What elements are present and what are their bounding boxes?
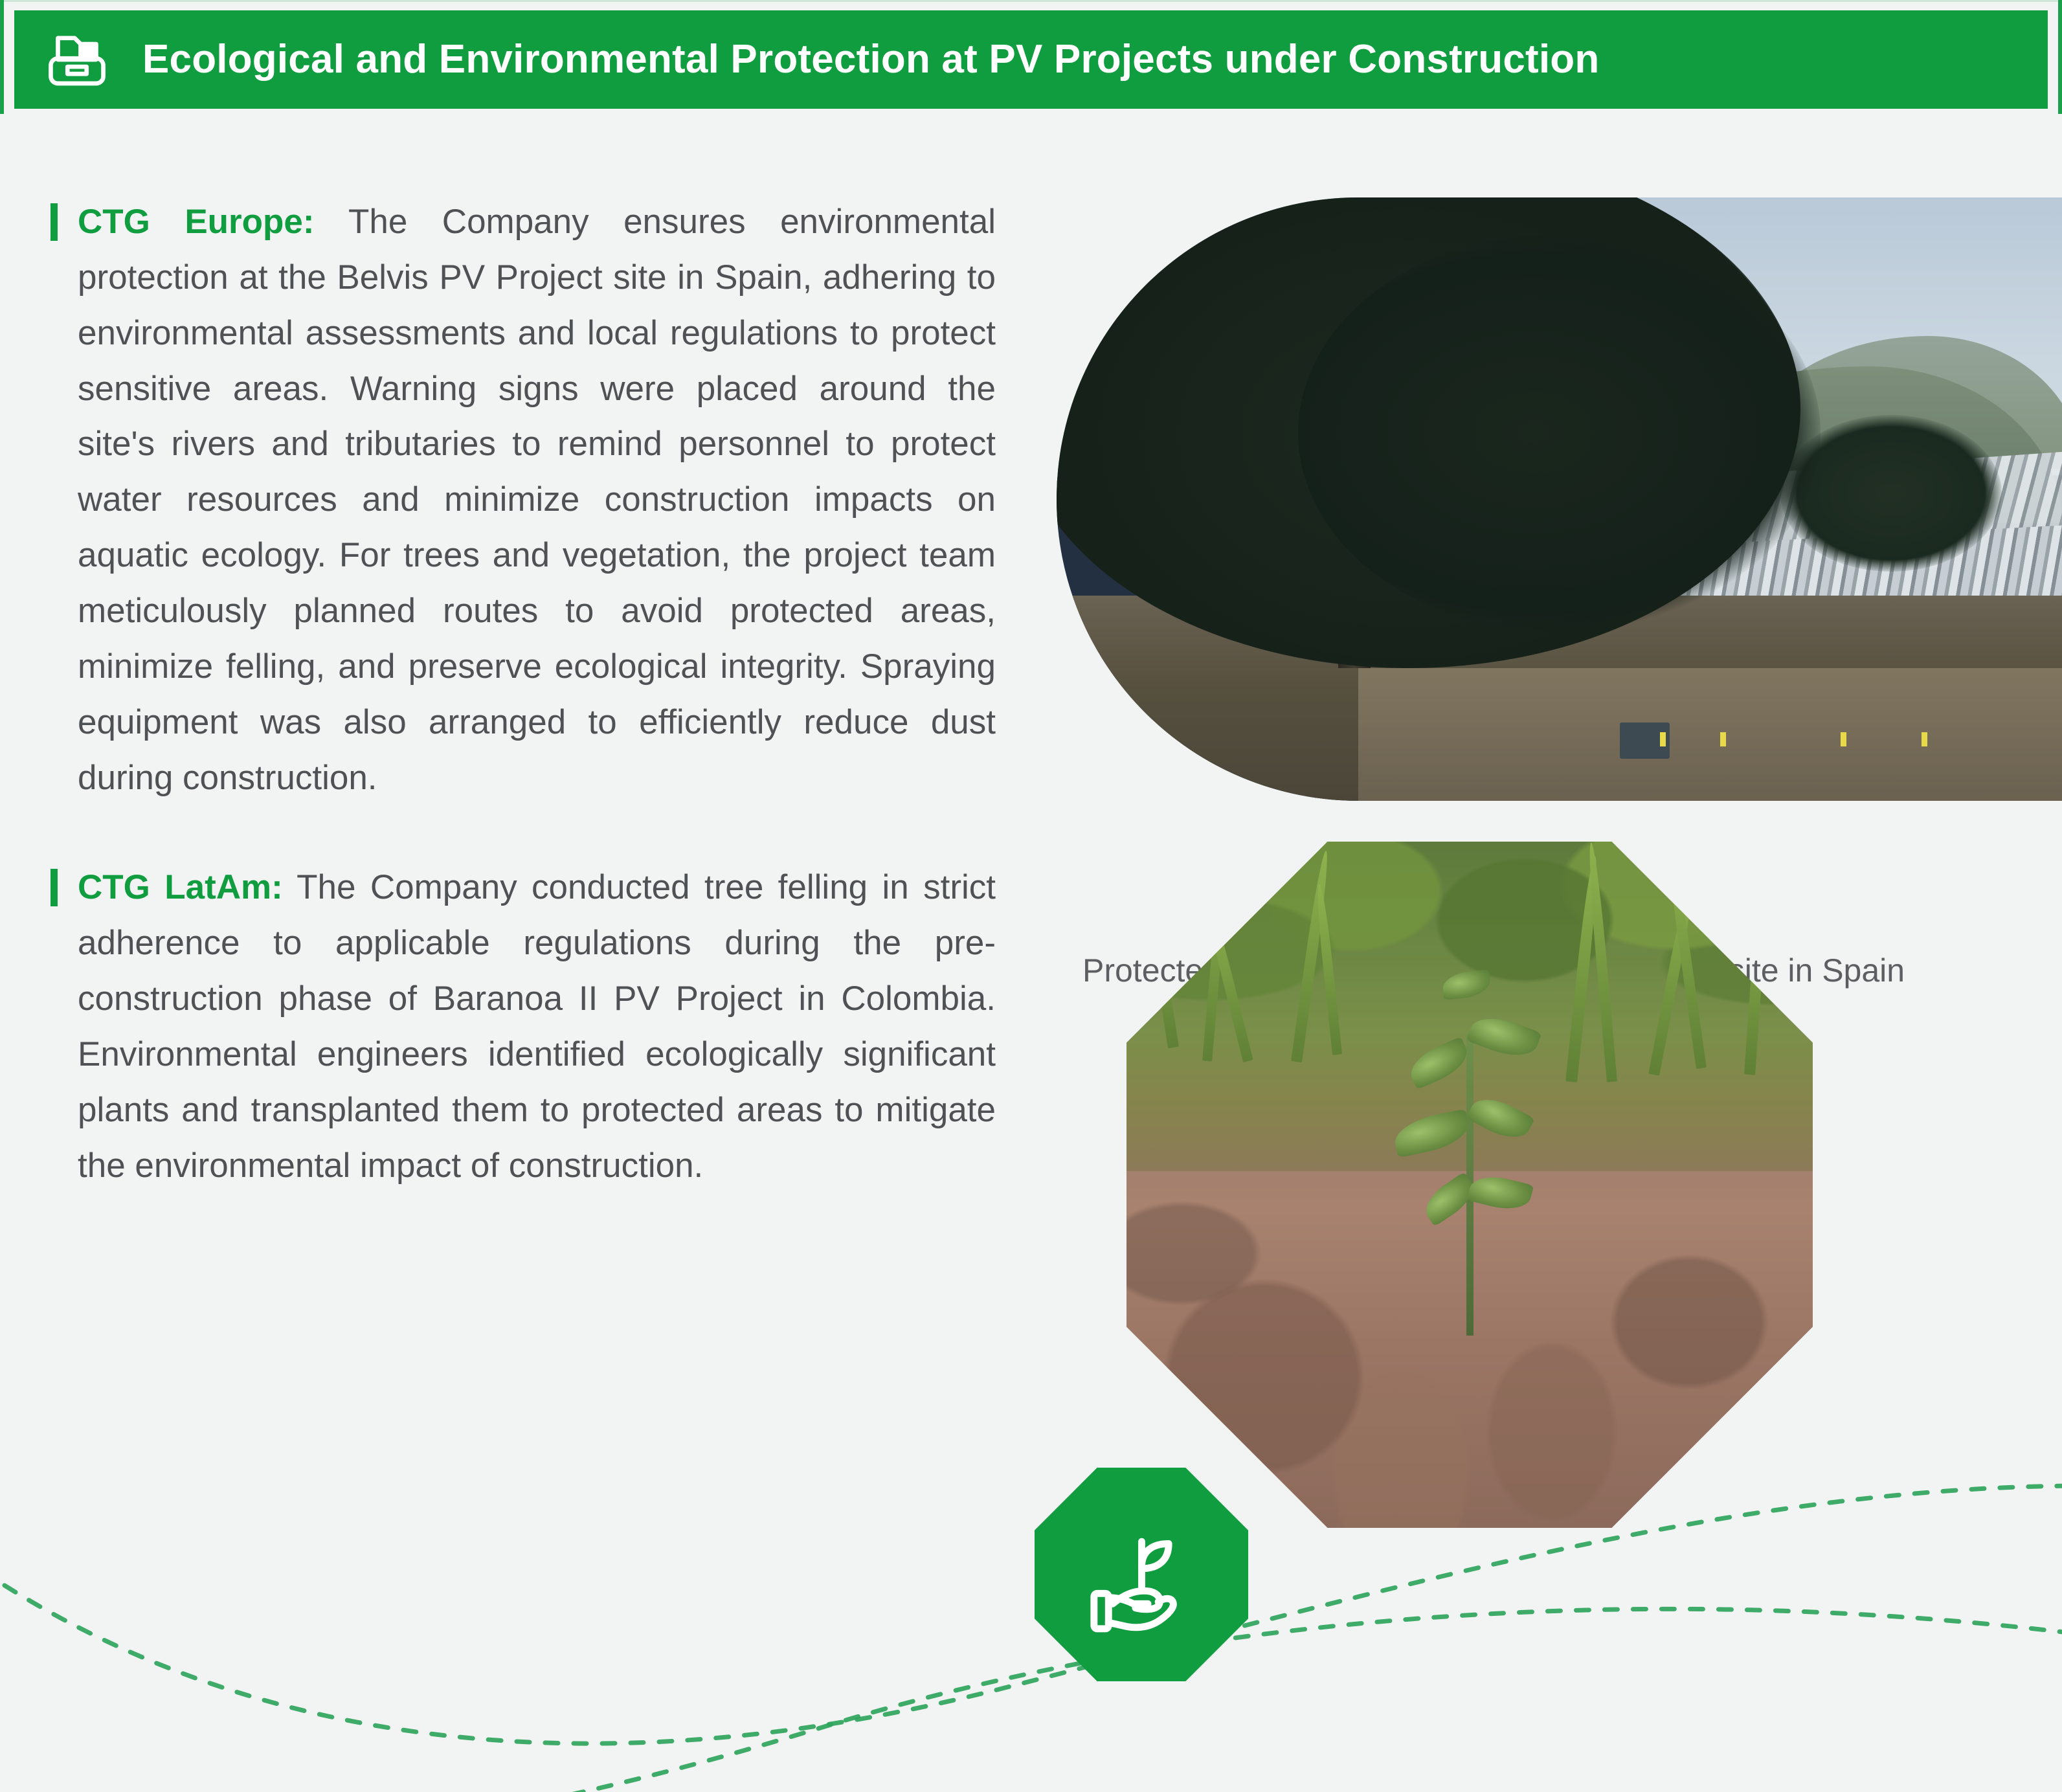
paragraph-accent-bar — [50, 203, 58, 241]
text-column: CTG Europe: The Company ensures environm… — [50, 194, 996, 1194]
section-header-bar: Ecological and Environmental Protection … — [14, 10, 2048, 109]
paragraph-ctg-latam: CTG LatAm: The Company conducted tree fe… — [50, 860, 996, 1193]
figure-protected-ancient-trees — [1057, 197, 2062, 801]
main-content: CTG Europe: The Company ensures environm… — [0, 133, 2062, 1792]
paragraph-lede-europe: CTG Europe: — [78, 203, 315, 241]
frame-divider — [0, 0, 2062, 2]
transplanted-rare-plant-photo — [1126, 842, 1813, 1528]
hand-holding-plant-icon — [1035, 1468, 1248, 1681]
paragraph-ctg-europe: CTG Europe: The Company ensures environm… — [50, 194, 996, 805]
paragraph-lede-latam: CTG LatAm: — [78, 868, 283, 906]
paragraph-text-latam: The Company conducted tree felling in st… — [78, 868, 996, 1184]
protected-ancient-trees-photo — [1057, 197, 2062, 801]
archive-box-icon — [39, 21, 115, 98]
paragraph-text-europe: The Company ensures environmental protec… — [78, 203, 996, 797]
page-root: Ecological and Environmental Protection … — [0, 0, 2062, 1792]
page-title: Ecological and Environmental Protection … — [142, 39, 1599, 80]
paragraph-accent-bar — [50, 869, 58, 906]
frame-edge-right — [2058, 0, 2062, 114]
frame-edge-left — [0, 0, 4, 114]
figure-transplanted-rare-plant — [1126, 842, 1813, 1528]
